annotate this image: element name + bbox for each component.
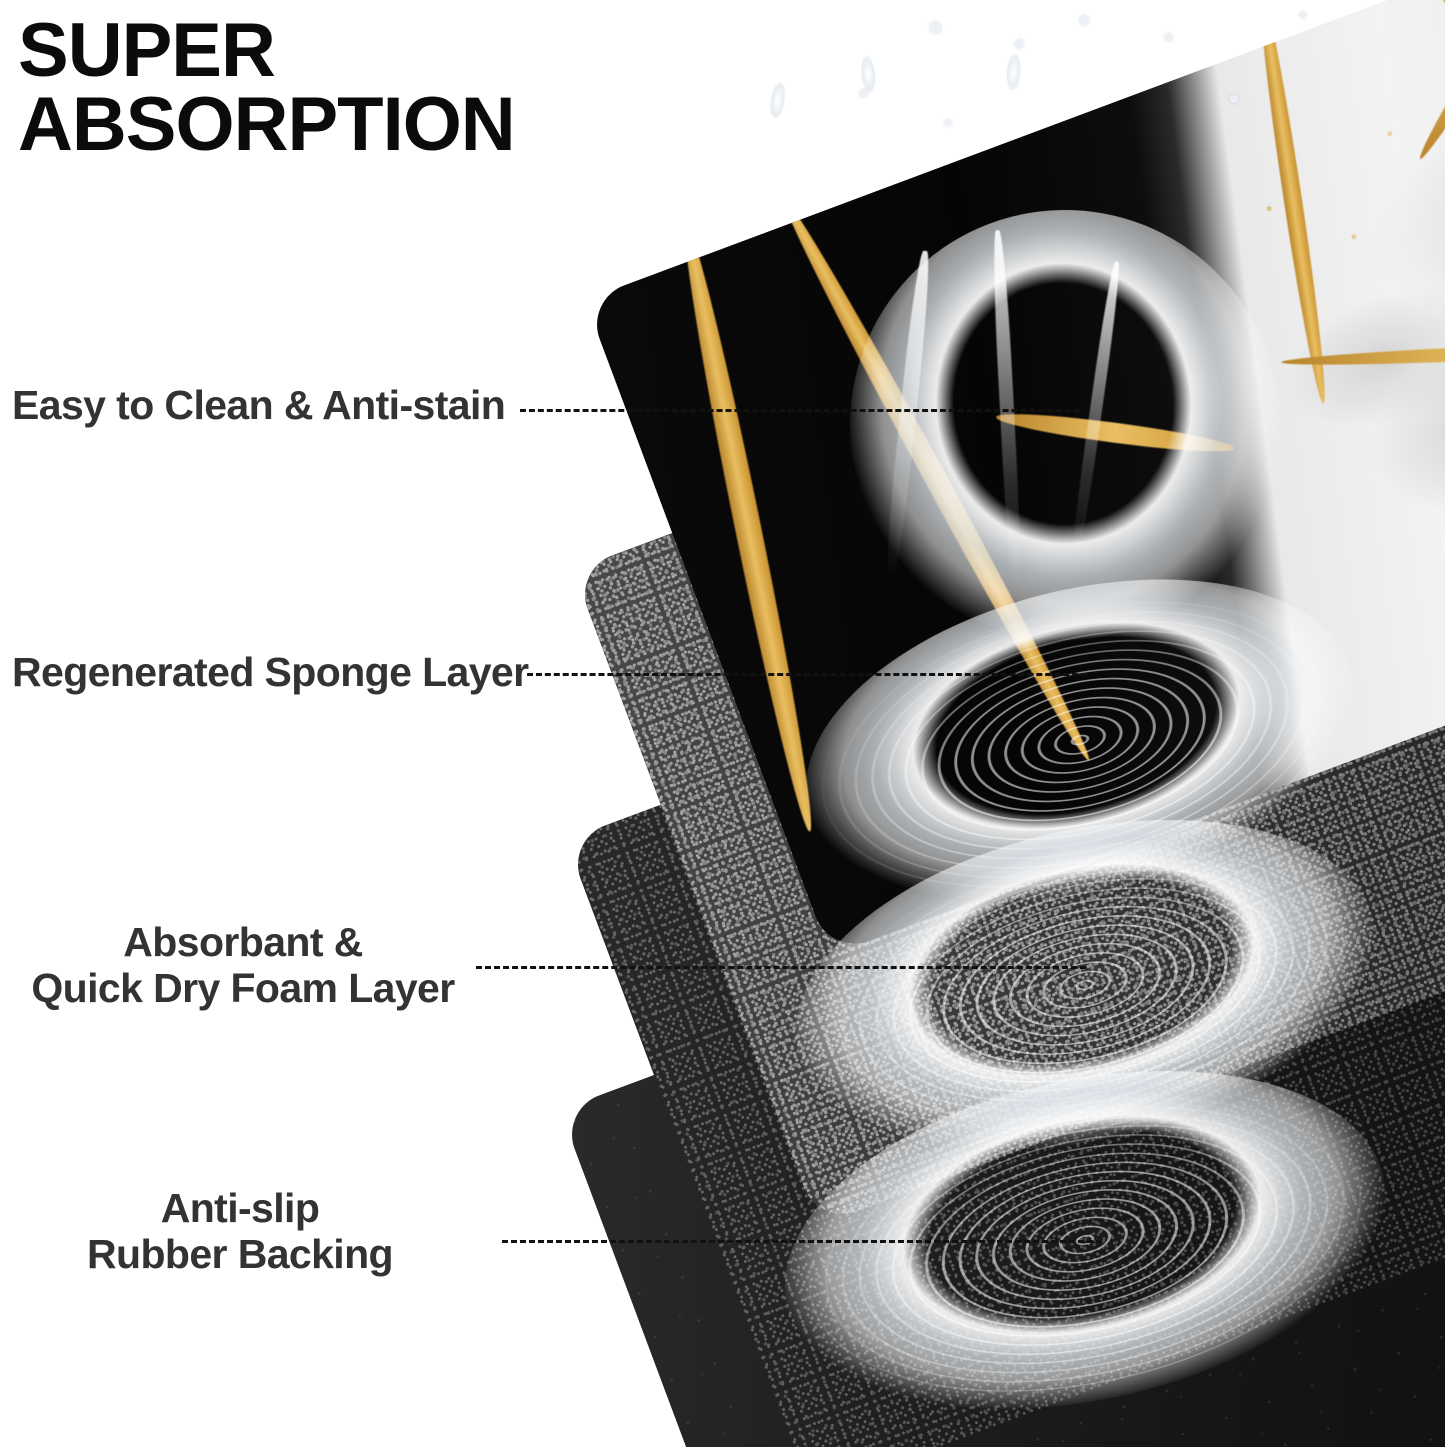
- water-droplet-icon: [1015, 40, 1023, 48]
- callout-line: Easy to Clean & Anti-stain: [12, 383, 505, 429]
- water-droplet-icon: [1080, 16, 1089, 25]
- page-title: SUPER ABSORPTION: [18, 14, 515, 161]
- water-droplet-icon: [1230, 95, 1238, 103]
- callout-label-easy-to-clean: Easy to Clean & Anti-stain: [12, 383, 505, 429]
- callout-line: Quick Dry Foam Layer: [28, 966, 458, 1012]
- callout-line: Regenerated Sponge Layer: [12, 650, 528, 696]
- water-droplet-icon: [930, 22, 941, 33]
- callout-label-absorbant-foam: Absorbant & Quick Dry Foam Layer: [28, 920, 458, 1012]
- callout-leader-line-anti-slip-rubber: [502, 1240, 1102, 1243]
- water-droplet-icon: [945, 120, 951, 126]
- water-droplet-icon: [1300, 12, 1306, 18]
- infographic-canvas: SUPER ABSORPTION Easy to Clean & Anti-st…: [0, 0, 1445, 1447]
- callout-leader-line-absorbant-foam: [476, 966, 1086, 969]
- water-droplet-icon: [1165, 34, 1172, 41]
- callout-leader-line-easy-to-clean: [520, 409, 1080, 412]
- callout-leader-line-regenerated-sponge: [527, 673, 1087, 676]
- callout-label-anti-slip-rubber: Anti-slip Rubber Backing: [50, 1186, 430, 1278]
- callout-line: Absorbant &: [28, 920, 458, 966]
- callout-line: Anti-slip: [50, 1186, 430, 1232]
- callout-line: Rubber Backing: [50, 1232, 430, 1278]
- callout-label-regenerated-sponge: Regenerated Sponge Layer: [12, 650, 528, 696]
- water-droplet-icon: [860, 90, 867, 97]
